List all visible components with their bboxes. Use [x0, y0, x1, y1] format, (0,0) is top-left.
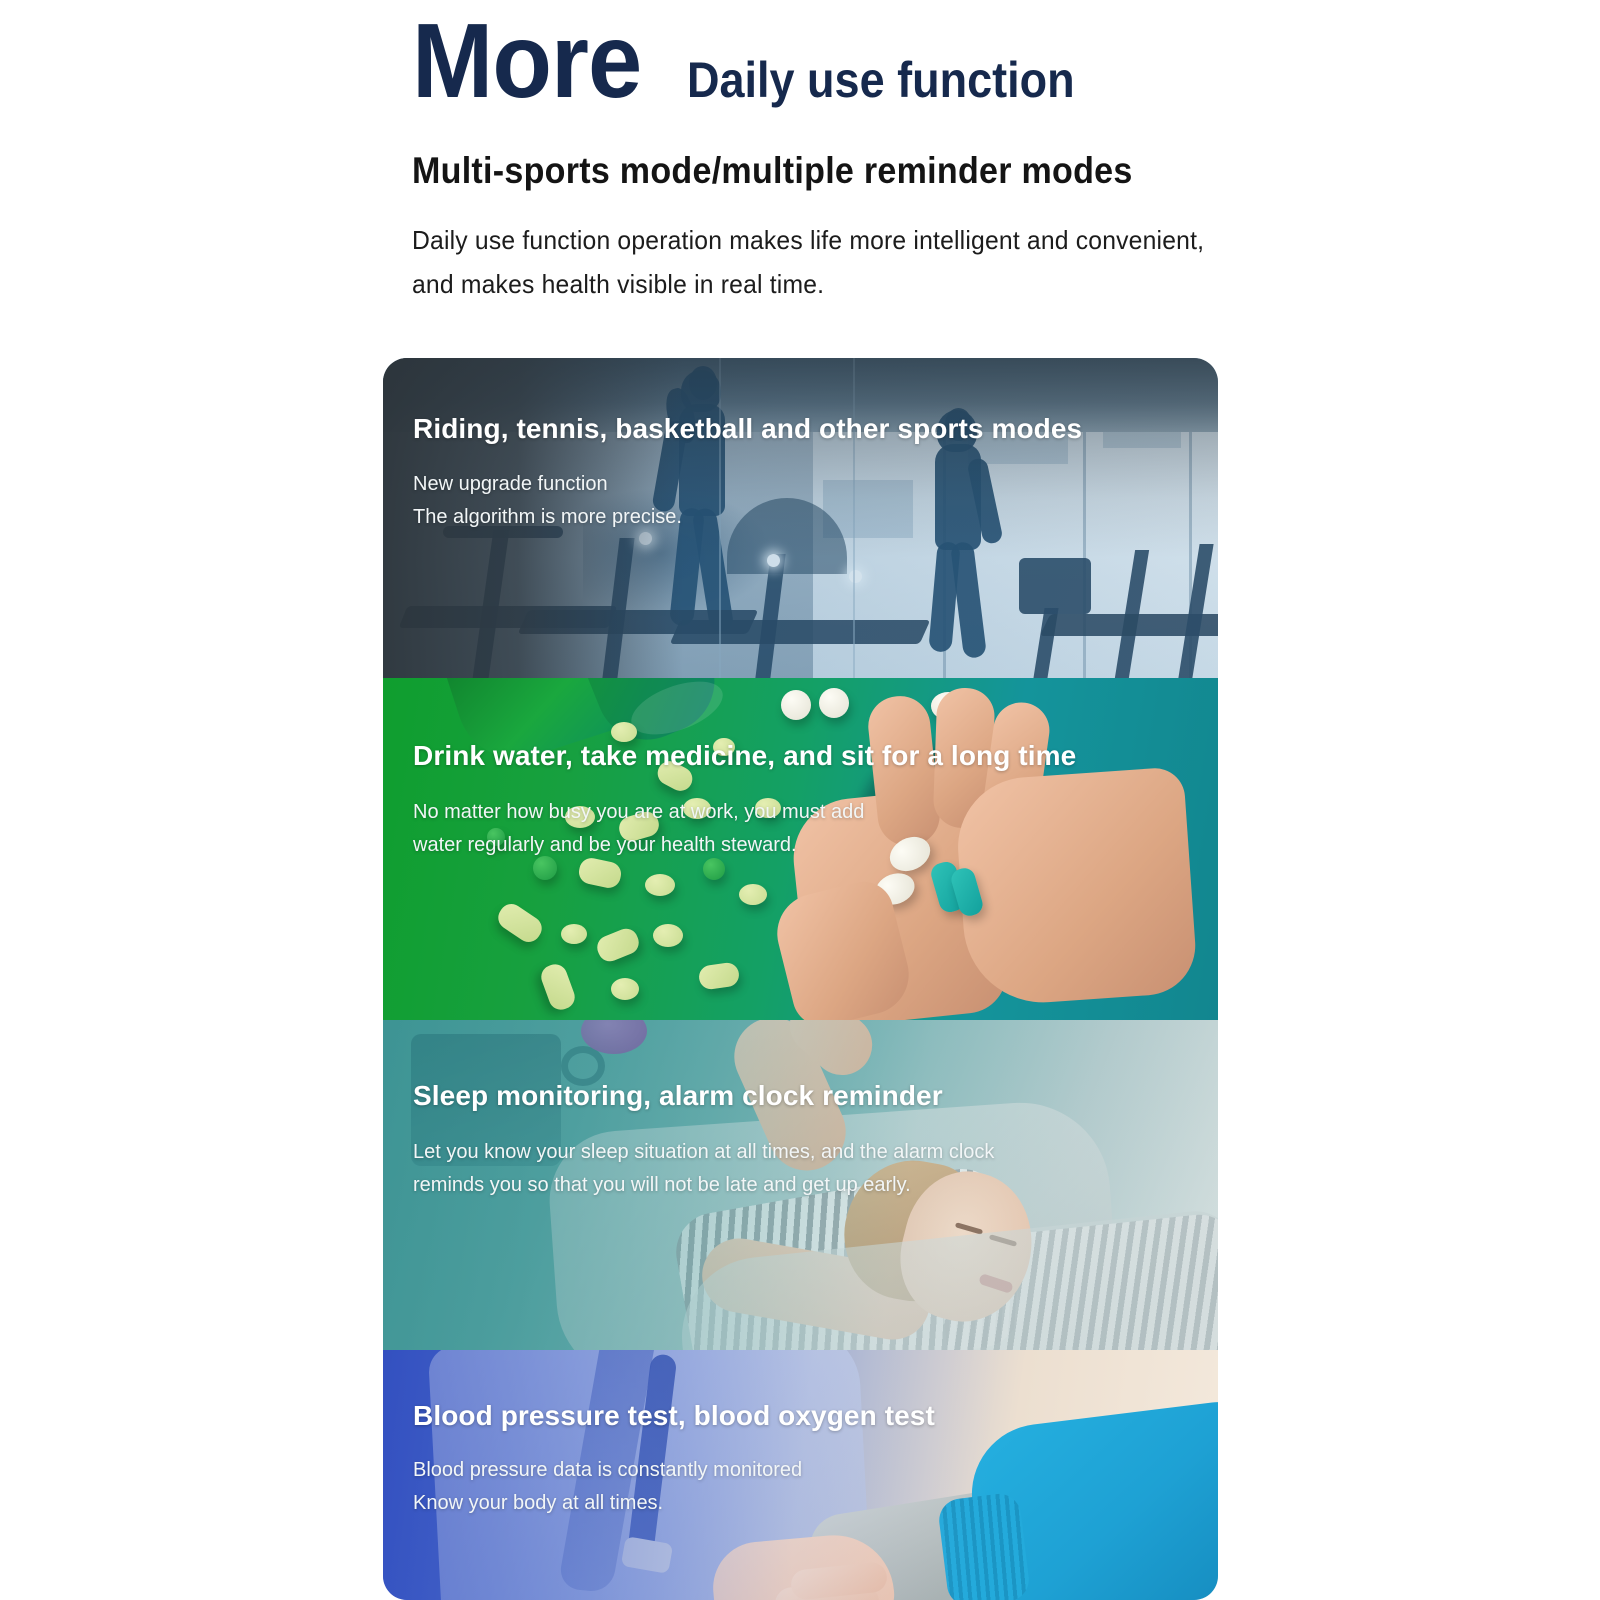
card-description-line-2: water regularly and be your health stewa…: [413, 829, 1076, 862]
page-subtitle: Multi-sports mode/multiple reminder mode…: [412, 150, 1133, 192]
page-description: Daily use function operation makes life …: [412, 218, 1246, 306]
card-description-line-1: New upgrade function: [413, 468, 1082, 501]
promo-page: More Daily use function Multi-sports mod…: [0, 0, 1600, 1600]
feature-card-stack: Riding, tennis, basketball and other spo…: [383, 358, 1218, 1600]
card-description-line-2: reminds you so that you will not be late…: [413, 1169, 994, 1202]
card-description-line-2: The algorithm is more precise.: [413, 501, 1082, 534]
page-title: More Daily use function: [412, 8, 1118, 114]
card-title: Riding, tennis, basketball and other spo…: [413, 413, 1082, 445]
feature-card-sports-modes[interactable]: Riding, tennis, basketball and other spo…: [383, 358, 1218, 678]
card-description-line-1: Let you know your sleep situation at all…: [413, 1136, 994, 1169]
feature-card-blood-pressure[interactable]: Blood pressure test, blood oxygen test B…: [383, 1350, 1218, 1600]
title-main-word: More: [412, 8, 641, 114]
feature-card-sleep-monitoring[interactable]: Sleep monitoring, alarm clock reminder L…: [383, 1020, 1218, 1350]
card-title: Sleep monitoring, alarm clock reminder: [413, 1080, 994, 1112]
card-text-block: Blood pressure test, blood oxygen test B…: [413, 1400, 935, 1520]
feature-card-drink-water-medicine[interactable]: Drink water, take medicine, and sit for …: [383, 678, 1218, 1020]
description-line-2: and makes health visible in real time.: [412, 262, 1204, 306]
description-line-1: Daily use function operation makes life …: [412, 218, 1204, 262]
card-title: Drink water, take medicine, and sit for …: [413, 740, 1076, 772]
card-description-line-1: Blood pressure data is constantly monito…: [413, 1454, 935, 1487]
card-description-line-1: No matter how busy you are at work, you …: [413, 796, 1076, 829]
card-text-block: Sleep monitoring, alarm clock reminder L…: [413, 1080, 994, 1202]
card-text-block: Drink water, take medicine, and sit for …: [413, 740, 1076, 862]
title-sub-phrase: Daily use function: [687, 55, 1075, 105]
card-description-line-2: Know your body at all times.: [413, 1487, 935, 1520]
card-title: Blood pressure test, blood oxygen test: [413, 1400, 935, 1432]
card-text-block: Riding, tennis, basketball and other spo…: [413, 413, 1082, 534]
